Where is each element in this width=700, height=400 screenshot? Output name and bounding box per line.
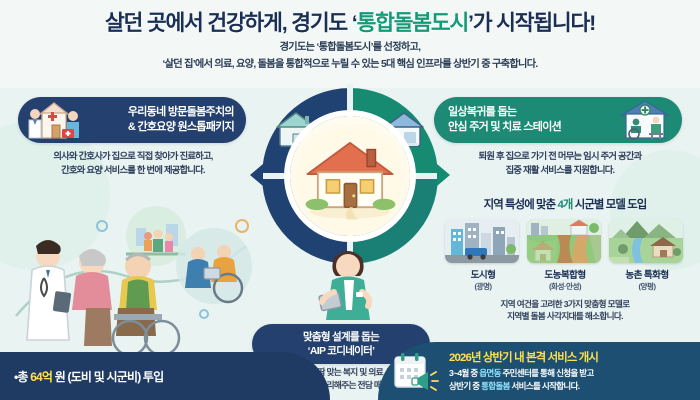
budget-bar: •총 64억 원 (도비 및 시군비) 투입 — [0, 352, 330, 400]
card-left-title-line1: 우리동네 방문돌봄주치의 — [128, 105, 234, 120]
card-visiting-care-title: 우리동네 방문돌봄주치의 & 간호요양 원스톱패키지 — [128, 105, 234, 135]
rural-mountain-icon — [609, 219, 683, 263]
wheel-arrow-left-icon — [250, 164, 263, 186]
models-note-line1: 지역 여건을 고려한 3가지 맞춤형 모델로 — [436, 298, 694, 310]
card-left-caption-line2: 간호와 요양 서비스를 한 번에 제공합니다. — [18, 164, 248, 178]
schedule-text: 2026년 상반기 내 본격 서비스 개시 3~4월 중 읍면동 주민센터를 통… — [449, 349, 598, 393]
schedule-line2-post: 서비스를 시작합니다. — [510, 381, 580, 391]
subtitle-line-1: 경기도는 ‘통합돌봄도시’를 선정하고, — [0, 40, 700, 57]
suburban-field-icon — [527, 219, 601, 263]
model-name-urban: 도시형 — [445, 267, 521, 281]
schedule-line1-post: 주민센터를 통해 신청을 받고 — [501, 368, 594, 378]
model-name-rural: 농촌 특화형 — [609, 267, 685, 281]
schedule-line1-highlight: 읍면동 — [479, 368, 501, 378]
calendar-megaphone-icon — [392, 349, 442, 393]
model-name-mixed: 도농복합형 — [527, 267, 603, 281]
schedule-line2-pre: 상반기 중 — [449, 381, 481, 391]
model-sub-urban: (광명) — [445, 281, 521, 292]
card-visiting-care-caption: 의사와 간호사가 집으로 직접 찾아가 진료하고, 간호와 요양 서비스를 한 … — [18, 150, 248, 178]
models-title-post: 시군별 모델 도입 — [573, 199, 647, 211]
page-subtitle: 경기도는 ‘통합돌봄도시’를 선정하고, ‘살던 집’에서 의료, 요양, 돌봄… — [0, 40, 700, 74]
schedule-title: 2026년 상반기 내 본격 서비스 개시 — [449, 349, 598, 365]
model-item-mixed[interactable]: 도농복합형 (화성·안성) — [527, 219, 603, 292]
model-sub-rural: (양평) — [609, 281, 685, 292]
schedule-detail-line1: 3~4월 중 읍면동 주민센터를 통해 신청을 받고 — [449, 367, 598, 380]
card-left-title-line2: & 간호요양 원스톱패키지 — [128, 120, 234, 135]
models-note-line2: 지역별 돌봄 사각지대를 해소합니다. — [436, 310, 694, 322]
title-text-part1: 살던 곳에서 건강하게, 경기도 ‘ — [105, 11, 357, 35]
budget-pre: 총 — [17, 370, 30, 384]
card-right-title-line1: 일상복귀를 돕는 — [448, 105, 561, 120]
card-left-caption-line1: 의사와 간호사가 집으로 직접 찾아가 진료하고, — [18, 150, 248, 164]
budget-post: 원 (도비 및 시군비) 투입 — [52, 370, 163, 384]
card-recovery-station[interactable]: 일상복귀를 돕는 안심 주거 및 치료 스테이션 — [434, 97, 682, 143]
models-title-pre: 지역 특성에 맞춘 — [484, 199, 558, 211]
left-people-illustration — [6, 196, 256, 356]
regional-models-section: 지역 특성에 맞춘 4개 시군별 모델 도입 — [436, 196, 694, 323]
title-text-part2: ’가 시작됩니다! — [468, 11, 595, 35]
card-recovery-station-title: 일상복귀를 돕는 안심 주거 및 치료 스테이션 — [448, 105, 561, 135]
schedule-line1-pre: 3~4월 중 — [449, 368, 479, 378]
model-item-urban[interactable]: 도시형 (광명) — [445, 219, 521, 292]
card-aip-coordinator-title: 맞춤형 설계를 돕는 ‘AIP 코디네이터’ — [303, 330, 379, 358]
card-recovery-station-caption: 퇴원 후 집으로 가기 전 머무는 임시 주거 공간과 집중 재활 서비스를 지… — [434, 150, 686, 178]
wheel-hub-house-icon — [290, 116, 410, 236]
budget-amount: 64억 — [30, 370, 52, 384]
title-highlight: 통합돌봄도시 — [357, 11, 468, 35]
model-sub-mixed: (화성·안성) — [527, 281, 603, 292]
schedule-line2-highlight: 통합돌봄 — [481, 381, 510, 391]
regional-models-note: 지역 여건을 고려한 3가지 맞춤형 모델로 지역별 돌봄 사각지대를 해소합니… — [436, 298, 694, 323]
models-title-count: 4개 — [557, 199, 572, 211]
card-bottom-title-line1: 맞춤형 설계를 돕는 — [303, 330, 379, 344]
city-buildings-icon — [445, 219, 519, 263]
schedule-bar: 2026년 상반기 내 본격 서비스 개시 3~4월 중 읍면동 주민센터를 통… — [378, 342, 700, 400]
regional-models-title: 지역 특성에 맞춘 4개 시군별 모델 도입 — [436, 196, 694, 212]
schedule-detail-line2: 상반기 중 통합돌봄 서비스를 시작합니다. — [449, 380, 598, 393]
page-title: 살던 곳에서 건강하게, 경기도 ‘통합돌봄도시’가 시작됩니다! — [0, 6, 700, 37]
card-visiting-care[interactable]: 우리동네 방문돌봄주치의 & 간호요양 원스톱패키지 — [18, 97, 246, 143]
card-right-title-line2: 안심 주거 및 치료 스테이션 — [448, 120, 561, 135]
infographic-root: 살던 곳에서 건강하게, 경기도 ‘통합돌봄도시’가 시작됩니다! 경기도는 ‘… — [0, 0, 700, 400]
coordinator-person-illustration-icon — [300, 236, 396, 328]
schedule-detail: 3~4월 중 읍면동 주민센터를 통해 신청을 받고 상반기 중 통합돌봄 서비… — [449, 367, 598, 393]
budget-text: •총 64억 원 (도비 및 시군비) 투입 — [0, 368, 163, 385]
regional-models-row: 도시형 (광명) — [436, 219, 694, 292]
recovery-station-illustration-icon — [616, 98, 674, 142]
model-item-rural[interactable]: 농촌 특화형 (양평) — [609, 219, 685, 292]
card-bottom-title-line2: ‘AIP 코디네이터’ — [303, 344, 379, 358]
card-right-caption-line2: 집중 재활 서비스를 지원합니다. — [434, 164, 686, 178]
visiting-care-illustration-icon — [24, 98, 82, 142]
subtitle-line-2: ‘살던 집’에서 의료, 요양, 돌봄을 통합적으로 누릴 수 있는 5대 핵심… — [0, 57, 700, 74]
card-right-caption-line1: 퇴원 후 집으로 가기 전 머무는 임시 주거 공간과 — [434, 150, 686, 164]
